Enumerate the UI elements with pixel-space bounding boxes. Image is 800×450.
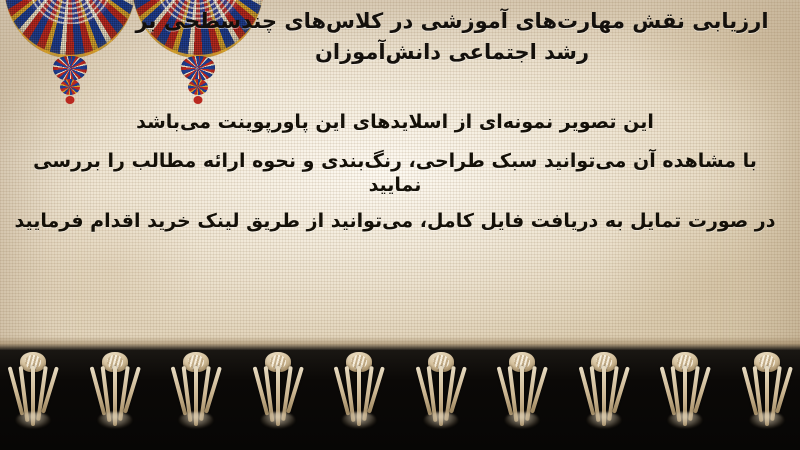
carpet-fringe-tassel-icon <box>736 350 798 450</box>
carpet-fringe <box>0 350 800 450</box>
persian-carpet-medallion-icon <box>4 0 136 64</box>
tassel-tip-glow <box>424 412 458 428</box>
body-line: در صورت تمایل به دریافت فایل کامل، می‌تو… <box>10 209 780 234</box>
medallion-pendant-medium-icon <box>60 79 80 95</box>
title-line-1: ارزیابی نقش مهارت‌های آموزشی در کلاس‌های… <box>132 6 772 37</box>
carpet-fringe-tassel-icon <box>247 350 309 450</box>
tassel-tip-glow <box>16 412 50 428</box>
carpet-upper-edge <box>0 336 800 350</box>
tassel-tip-glow <box>587 412 621 428</box>
medallion-pendant-small-icon <box>66 96 75 104</box>
slide-body-text: این تصویر نمونه‌ای از اسلایدهای این پاور… <box>10 110 780 245</box>
tassel-tip-glow <box>750 412 784 428</box>
carpet-fringe-tassel-icon <box>84 350 146 450</box>
tassel-tip-glow <box>342 412 376 428</box>
tassel-tip-glow <box>668 412 702 428</box>
carpet-fringe-tassel-icon <box>165 350 227 450</box>
tassel-tip-glow <box>98 412 132 428</box>
medallion-pendant-small-icon <box>194 96 203 104</box>
body-line: با مشاهده آن می‌توانید سبک طراحی، رنگ‌بن… <box>10 149 780 198</box>
medallion-pendant-medium-icon <box>188 79 208 95</box>
carpet-fringe-tassel-icon <box>410 350 472 450</box>
medallion-pendant-large-icon <box>53 56 87 81</box>
carpet-fringe-tassel-icon <box>2 350 64 450</box>
tassel-tip-glow <box>179 412 213 428</box>
tassel-tip-glow <box>505 412 539 428</box>
carpet-fringe-tassel-icon <box>573 350 635 450</box>
slide-canvas: ارزیابی نقش مهارت‌های آموزشی در کلاس‌های… <box>0 0 800 450</box>
title-line-2: رشد اجتماعی دانش‌آموزان <box>132 37 772 68</box>
carpet-fringe-tassel-icon <box>491 350 553 450</box>
body-line: این تصویر نمونه‌ای از اسلایدهای این پاور… <box>10 110 780 135</box>
tassel-tip-glow <box>261 412 295 428</box>
carpet-fringe-tassel-icon <box>654 350 716 450</box>
carpet-fringe-tassel-icon <box>328 350 390 450</box>
page-title: ارزیابی نقش مهارت‌های آموزشی در کلاس‌های… <box>132 6 772 68</box>
medallion-body <box>4 0 136 58</box>
